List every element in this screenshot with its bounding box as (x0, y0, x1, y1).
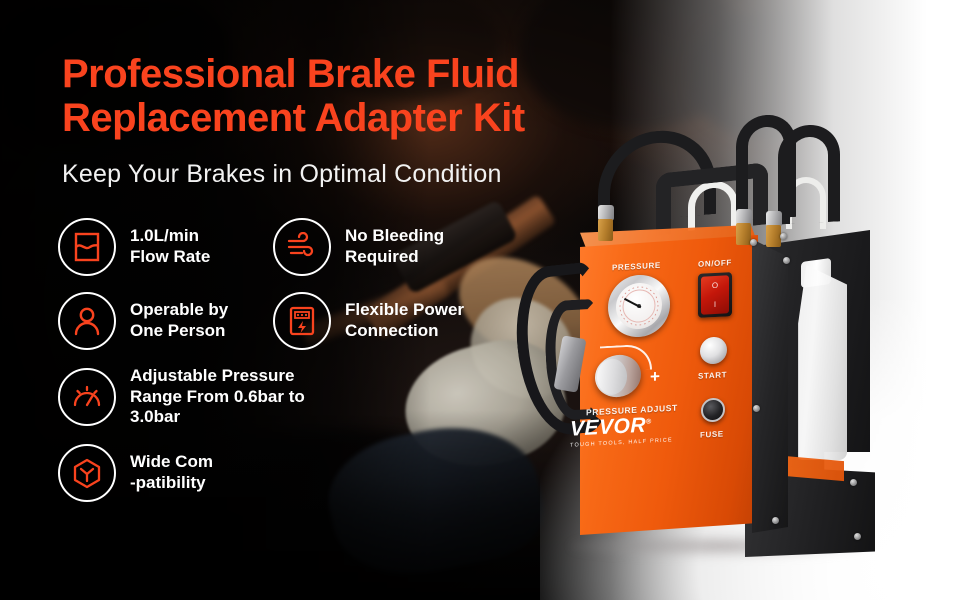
knob-face (596, 357, 628, 396)
feature-item-flow-rate: 1.0L/min Flow Rate (58, 218, 273, 276)
feature-item-one-person: Operable by One Person (58, 292, 273, 350)
fluid-tank-icon (58, 218, 116, 276)
brass-fitting (766, 225, 781, 247)
plus-symbol: + (650, 367, 660, 388)
feature-line-1: Wide Com (130, 452, 213, 473)
reservoir-bottle (795, 265, 847, 460)
page-title: Professional Brake Fluid Replacement Ada… (62, 52, 622, 140)
panel-screw (753, 405, 760, 412)
feature-line-2: Required (345, 247, 444, 268)
feature-line-1: 1.0L/min (130, 226, 210, 247)
feature-line-2: Flow Rate (130, 247, 210, 268)
brand-logo: VEVOR® TOUGH TOOLS, HALF PRICE (570, 412, 673, 448)
feature-text: 1.0L/min Flow Rate (130, 226, 210, 267)
start-label: START (698, 370, 727, 381)
brand-text: VEVOR (570, 414, 646, 441)
brass-fitting (598, 219, 613, 241)
feature-line-2: Range From 0.6bar to 3.0bar (130, 387, 358, 428)
switch-off-symbol: I (714, 300, 716, 309)
feature-line-1: No Bleeding (345, 226, 444, 247)
black-hose (778, 123, 840, 224)
switch-on-symbol: O (712, 281, 718, 290)
fuse-label: FUSE (700, 429, 724, 439)
feature-item-no-bleeding: No Bleeding Required (273, 218, 488, 276)
brass-fitting (736, 223, 751, 245)
feature-text: Operable by One Person (130, 300, 228, 341)
hex-cube-icon (58, 444, 116, 502)
feature-list: 1.0L/min Flow Rate No Bleeding Required (58, 218, 578, 518)
feature-row: Operable by One Person Flexibl (58, 292, 578, 350)
feature-item-adjustable-pressure: Adjustable Pressure Range From 0.6bar to… (58, 366, 358, 428)
wind-flow-icon (273, 218, 331, 276)
panel-screw (854, 533, 861, 540)
feature-line-1: Adjustable Pressure (130, 366, 358, 387)
feature-text: Flexible Power Connection (345, 300, 464, 341)
gauge-face (616, 282, 662, 330)
feature-line-2: Connection (345, 321, 464, 342)
panel-screw (750, 239, 757, 246)
product-image: PRESSURE ON/OFF O I START FUSE (540, 105, 960, 575)
feature-text: No Bleeding Required (345, 226, 444, 267)
machine-side-panel (752, 233, 788, 533)
headline-line-1: Professional Brake Fluid (62, 52, 519, 96)
feature-line-2: One Person (130, 321, 228, 342)
feature-text: Wide Com -patibility (130, 452, 213, 493)
feature-row: Adjustable Pressure Range From 0.6bar to… (58, 366, 578, 428)
headline-line-2: Replacement Adapter Kit (62, 96, 622, 140)
registered-mark: ® (646, 418, 652, 425)
feature-text: Adjustable Pressure Range From 0.6bar to… (130, 366, 358, 428)
rocker-face: O I (701, 275, 729, 314)
feature-item-flexible-power: Flexible Power Connection (273, 292, 488, 350)
panel-screw (850, 479, 857, 486)
feature-line-1: Operable by (130, 300, 228, 321)
power-supply-icon (273, 292, 331, 350)
feature-line-2: -patibility (130, 473, 213, 494)
onoff-label: ON/OFF (698, 258, 732, 269)
subtitle: Keep Your Brakes in Optimal Condition (62, 160, 622, 189)
panel-screw (780, 233, 787, 240)
gauge-icon (58, 368, 116, 426)
feature-item-wide-compatibility: Wide Com -patibility (58, 444, 358, 502)
product-banner: Professional Brake Fluid Replacement Ada… (0, 0, 970, 600)
feature-row: 1.0L/min Flow Rate No Bleeding Required (58, 218, 578, 276)
panel-screw (772, 517, 779, 524)
power-rocker-switch[interactable]: O I (698, 272, 732, 318)
feature-row: Wide Com -patibility (58, 444, 578, 502)
panel-screw (783, 257, 790, 264)
feature-line-1: Flexible Power (345, 300, 464, 321)
person-icon (58, 292, 116, 350)
